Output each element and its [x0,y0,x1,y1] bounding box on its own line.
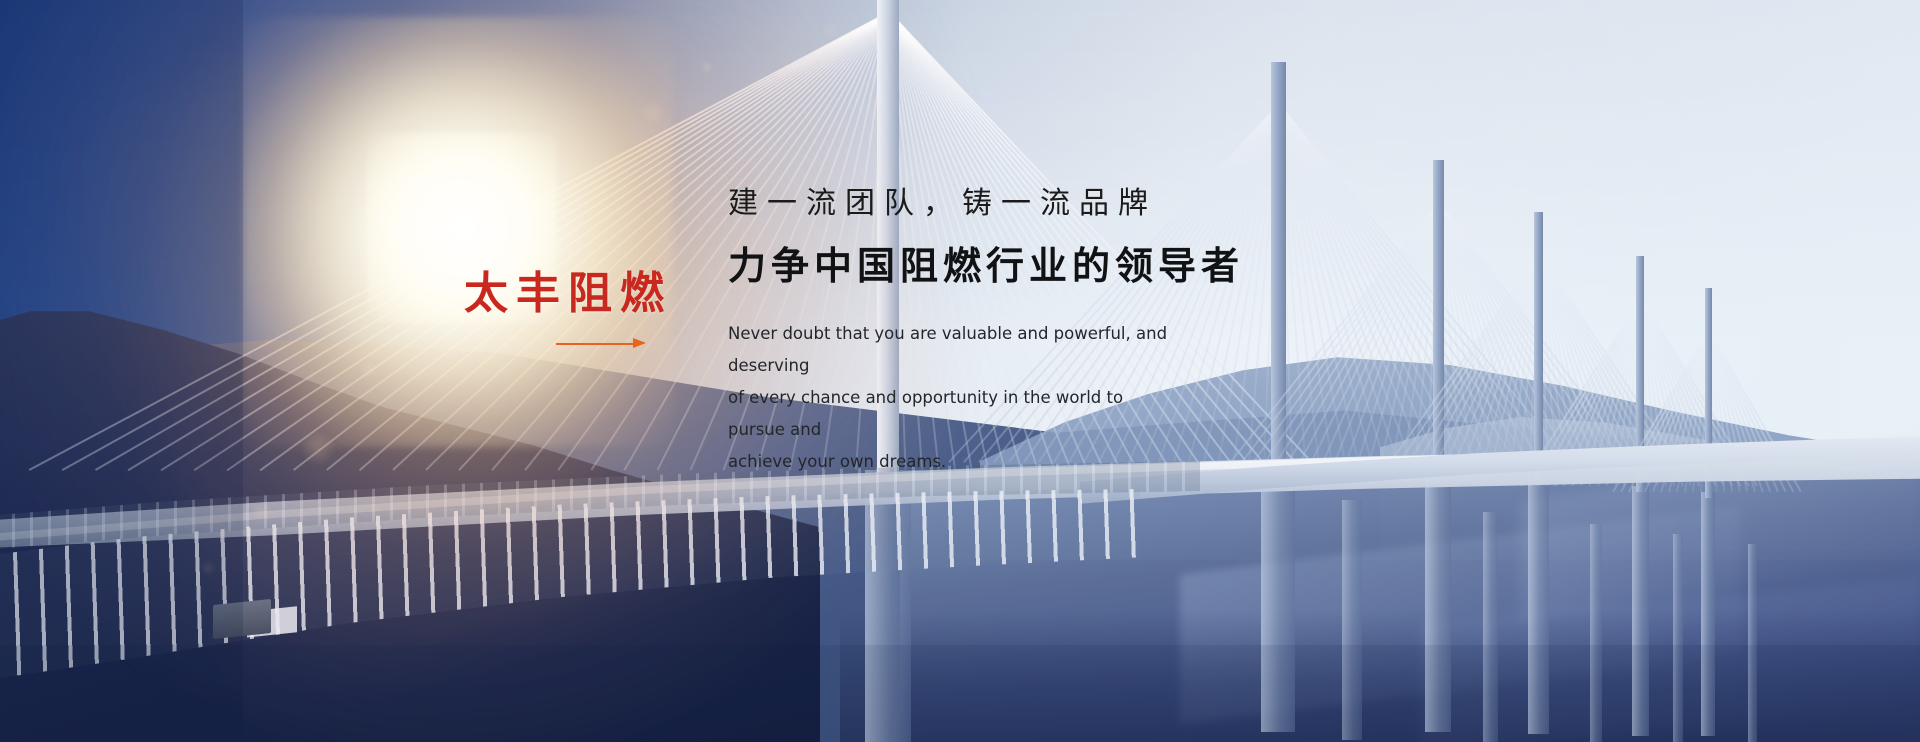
hero-headline: 力争中国阻燃行业的领导者 [728,244,1368,290]
brand-logo[interactable]: 太丰阻燃 [464,272,672,350]
brand-logo-text: 太丰阻燃 [464,272,672,316]
arrow-right-icon [556,338,646,350]
hero-banner: 太丰阻燃 建一流团队，铸一流品牌 力争中国阻燃行业的领导者 Never doub… [0,0,1920,742]
arrow-head [633,338,646,348]
hero-description-line: achieve your own dreams. [728,446,1180,478]
hero-description-line: Never doubt that you are valuable and po… [728,318,1180,382]
hero-description: Never doubt that you are valuable and po… [728,318,1180,479]
hero-copy: 建一流团队，铸一流品牌 力争中国阻燃行业的领导者 Never doubt tha… [728,186,1368,478]
arrow-shaft [556,343,634,345]
hero-description-line: of every chance and opportunity in the w… [728,382,1180,446]
left-tint-band [0,0,243,742]
bottom-tint-band [0,645,1920,742]
hero-tagline: 建一流团队，铸一流品牌 [728,186,1368,222]
